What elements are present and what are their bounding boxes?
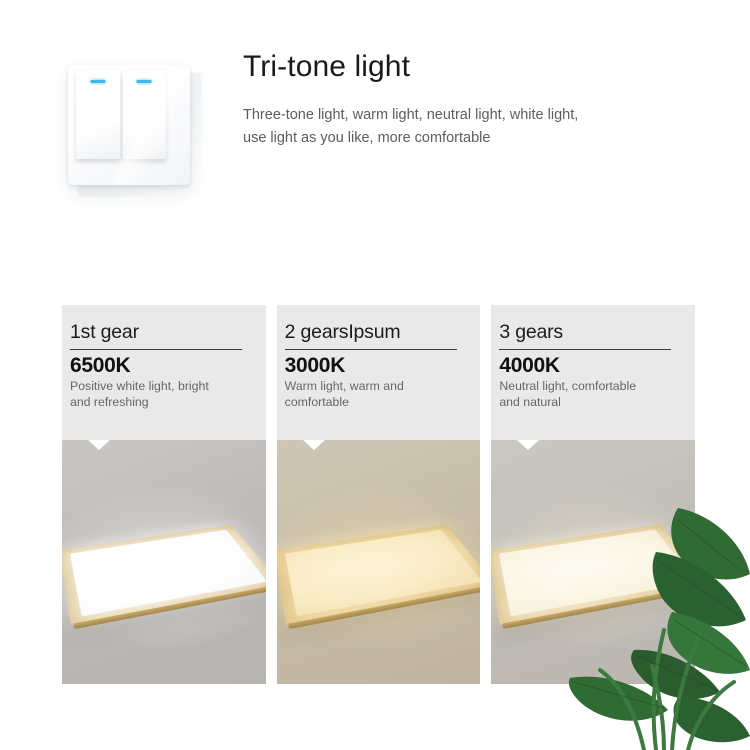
wall-switch-illustration [60, 55, 210, 205]
panel-description: Positive white light, bright and refresh… [70, 379, 252, 410]
switch-rocker-left [76, 71, 120, 159]
light-mode-panel: 3 gears 4000K Neutral light, comfortable… [491, 305, 695, 684]
page-title: Tri-tone light [243, 50, 410, 84]
panel-color-temperature: 4000K [499, 353, 681, 378]
product-marketing-image: Tri-tone light Three-tone light, warm li… [0, 0, 750, 750]
light-mode-panel: 2 gearsIpsum 3000K Warm light, warm and … [277, 305, 481, 684]
panel-description-line-1: Neutral light, comfortable [499, 379, 681, 395]
panel-color-temperature: 6500K [70, 353, 252, 378]
panel-divider [285, 349, 457, 350]
panel-description-line-2: and refreshing [70, 395, 252, 411]
caption-pointer-triangle [303, 440, 325, 450]
panel-description-line-1: Warm light, warm and [285, 379, 467, 395]
panel-description: Neutral light, comfortable and natural [499, 379, 681, 410]
panel-description-line-1: Positive white light, bright [70, 379, 252, 395]
panel-divider [70, 349, 242, 350]
panel-caption: 3 gears 4000K Neutral light, comfortable… [491, 305, 695, 440]
switch-rockers [76, 71, 166, 159]
panel-description-line-2: and natural [499, 395, 681, 411]
panel-description-line-2: comfortable [285, 395, 467, 411]
panel-photo [277, 440, 481, 684]
panel-caption: 1st gear 6500K Positive white light, bri… [62, 305, 266, 440]
light-mode-panel: 1st gear 6500K Positive white light, bri… [62, 305, 266, 684]
led-indicator-icon [137, 80, 152, 83]
light-mode-panels: 1st gear 6500K Positive white light, bri… [62, 305, 695, 684]
hero-section: Tri-tone light Three-tone light, warm li… [0, 0, 750, 235]
panel-photo [62, 440, 266, 684]
panel-color-temperature: 3000K [285, 353, 467, 378]
led-indicator-icon [90, 80, 105, 83]
caption-pointer-triangle [517, 440, 539, 450]
caption-pointer-triangle [88, 440, 110, 450]
hero-subtitle-line-1: Three-tone light, warm light, neutral li… [243, 104, 683, 127]
switch-rocker-right [123, 71, 167, 159]
panel-description: Warm light, warm and comfortable [285, 379, 467, 410]
panel-gear-label: 1st gear [70, 321, 252, 343]
panel-caption: 2 gearsIpsum 3000K Warm light, warm and … [277, 305, 481, 440]
hero-subtitle: Three-tone light, warm light, neutral li… [243, 104, 683, 150]
hero-subtitle-line-2: use light as you like, more comfortable [243, 127, 683, 150]
panel-photo [491, 440, 695, 684]
panel-divider [499, 349, 671, 350]
panel-gear-label: 3 gears [499, 321, 681, 343]
panel-gear-label: 2 gearsIpsum [285, 321, 467, 343]
